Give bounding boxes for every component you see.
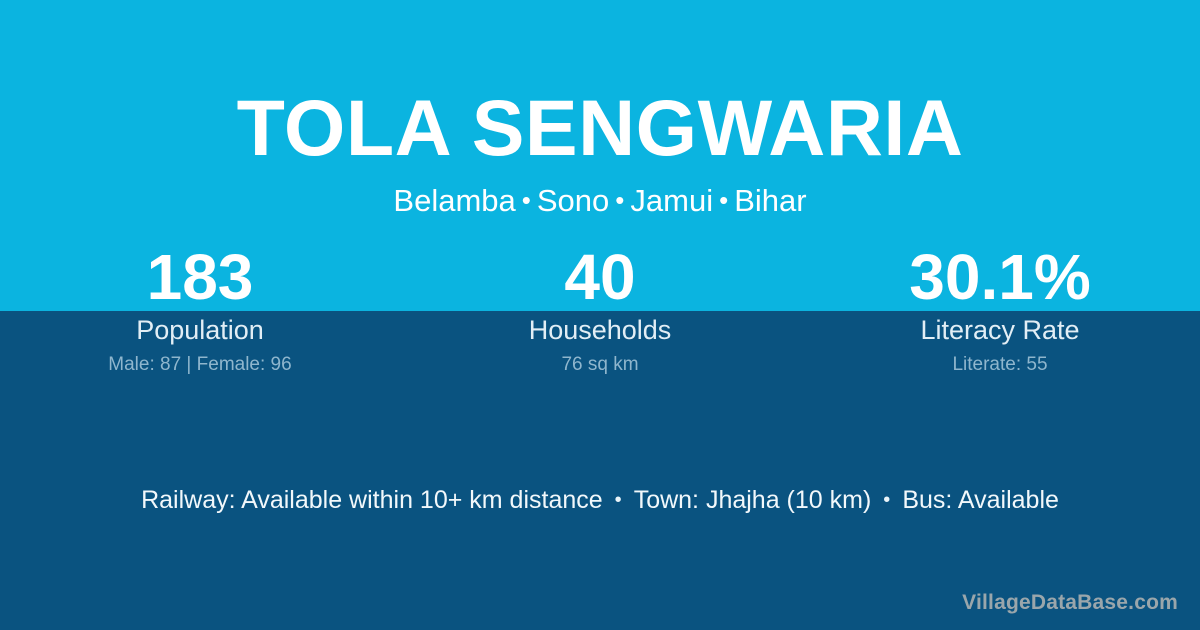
breadcrumb-part-district: Jamui — [630, 183, 713, 218]
facility-railway: Railway: Available within 10+ km distanc… — [141, 486, 603, 514]
stat-sublabel: 76 sq km — [400, 353, 800, 377]
stat-label: Households — [400, 314, 800, 347]
site-watermark: VillageDataBase.com — [962, 590, 1178, 616]
facilities-line: Railway: Available within 10+ km distanc… — [0, 483, 1200, 517]
breadcrumb-part-block: Sono — [537, 183, 609, 218]
bullet-separator-icon: • — [516, 180, 537, 220]
stat-sublabel: Literate: 55 — [800, 353, 1200, 377]
stat-population: 183 Population Male: 87 | Female: 96 — [0, 243, 400, 377]
stats-row: 183 Population Male: 87 | Female: 96 40 … — [0, 243, 1200, 377]
stat-label: Population — [0, 314, 400, 347]
stat-sublabel: Male: 87 | Female: 96 — [0, 353, 400, 377]
stat-literacy-rate: 30.1% Literacy Rate Literate: 55 — [800, 243, 1200, 377]
bullet-separator-icon: • — [609, 180, 630, 220]
stat-label: Literacy Rate — [800, 314, 1200, 347]
stat-households: 40 Households 76 sq km — [400, 243, 800, 377]
bullet-separator-icon: • — [603, 483, 634, 517]
breadcrumb-part-panchayat: Belamba — [393, 183, 515, 218]
card-content: TOLA SENGWARIA Belamba•Sono•Jamui•Bihar … — [0, 0, 1200, 630]
stat-value: 183 — [0, 243, 400, 311]
location-breadcrumb: Belamba•Sono•Jamui•Bihar — [0, 180, 1200, 221]
bullet-separator-icon: • — [713, 180, 734, 220]
breadcrumb-part-state: Bihar — [734, 183, 806, 218]
stat-value: 40 — [400, 243, 800, 311]
facility-town: Town: Jhajha (10 km) — [634, 486, 872, 514]
stat-value: 30.1% — [800, 243, 1200, 311]
facility-bus: Bus: Available — [902, 486, 1059, 514]
page-title: TOLA SENGWARIA — [0, 82, 1200, 174]
village-info-card: TOLA SENGWARIA Belamba•Sono•Jamui•Bihar … — [0, 0, 1200, 630]
bullet-separator-icon: • — [871, 483, 902, 517]
